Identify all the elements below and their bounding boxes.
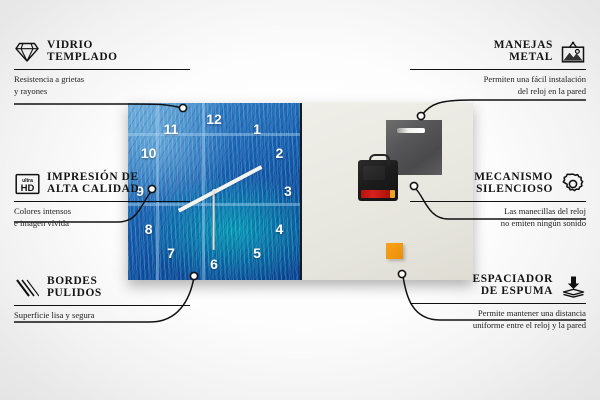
- feature-mecanismo-silencioso: MECANISMO SILENCIOSO Las manecillas del …: [410, 172, 586, 229]
- feature-header: ultra HD IMPRESIÓN DE ALTA CALIDAD: [14, 172, 190, 196]
- feature-title-line2: METAL: [494, 52, 553, 64]
- clock-numeral-10: 10: [141, 145, 157, 161]
- face-grid-line: [128, 133, 300, 136]
- foam-spacer: [386, 243, 403, 259]
- feature-divider: [14, 69, 190, 70]
- clock-numeral-5: 5: [253, 245, 261, 261]
- gear-icon: [560, 172, 586, 196]
- feature-title-line2: DE ESPUMA: [473, 286, 553, 298]
- feature-desc-line2: no emiten ningún sonido: [410, 218, 586, 229]
- feature-desc-line1: Las manecillas del reloj: [410, 206, 586, 217]
- feature-desc-line2: uniforme entre el reloj y la pared: [410, 320, 586, 331]
- battery-terminal: [390, 190, 395, 198]
- feature-description: Colores intensos e imagen vívida: [14, 206, 190, 229]
- feature-bordes-pulidos: BORDES PULIDOS Superficie lisa y segura: [14, 276, 190, 322]
- feature-desc-line1: Permite mantener una distancia: [410, 308, 586, 319]
- svg-text:HD: HD: [20, 183, 34, 194]
- mechanism-body-detail: [363, 166, 385, 180]
- feature-title: ESPACIADOR DE ESPUMA: [473, 274, 553, 298]
- feature-header: ESPACIADOR DE ESPUMA: [410, 274, 586, 298]
- diamond-icon: [14, 40, 40, 64]
- feature-desc-line1: Resistencia a grietas: [14, 74, 190, 85]
- clock-numeral-7: 7: [167, 245, 175, 261]
- clock-numeral-3: 3: [284, 183, 292, 199]
- feature-divider: [410, 69, 586, 70]
- feature-header: BORDES PULIDOS: [14, 276, 190, 300]
- hanging-frame-icon: [560, 40, 586, 64]
- feature-title: VIDRIO TEMPLADO: [47, 40, 118, 64]
- feature-header: MECANISMO SILENCIOSO: [410, 172, 586, 196]
- face-grid-line: [202, 103, 205, 280]
- feature-desc-line1: Permiten una fácil instalación: [410, 74, 586, 85]
- mechanism-battery: [361, 190, 391, 198]
- feature-divider: [14, 305, 190, 306]
- feature-description: Permiten una fácil instalación del reloj…: [410, 74, 586, 97]
- feature-vidrio-templado: VIDRIO TEMPLADO Resistencia a grietas y …: [14, 40, 190, 97]
- feature-divider: [410, 201, 586, 202]
- feature-description: Permite mantener una distancia uniforme …: [410, 308, 586, 331]
- ultra-hd-icon: ultra HD: [14, 172, 40, 196]
- feature-title: MECANISMO SILENCIOSO: [474, 172, 553, 196]
- clock-numeral-4: 4: [275, 221, 283, 237]
- feature-description: Superficie lisa y segura: [14, 310, 190, 321]
- clock-mechanism: [358, 160, 398, 201]
- clock-center-hub: [212, 189, 217, 194]
- feature-divider: [410, 303, 586, 304]
- mechanism-hanging-loop: [369, 154, 390, 165]
- feature-description: Las manecillas del reloj no emiten ningú…: [410, 206, 586, 229]
- infographic-canvas: 12 1 2 3 4 5 6 7 8 9 10 11: [0, 0, 600, 400]
- feature-manejas-metal: MANEJAS METAL Permiten una fácil instala…: [410, 40, 586, 97]
- clock-numeral-6: 6: [210, 256, 218, 272]
- feature-impresion-alta-calidad: ultra HD IMPRESIÓN DE ALTA CALIDAD Color…: [14, 172, 190, 229]
- feature-desc-line1: Colores intensos: [14, 206, 190, 217]
- hanger-slot: [397, 128, 425, 133]
- feature-desc-line2: e imagen vívida: [14, 218, 190, 229]
- feature-title: BORDES PULIDOS: [47, 276, 102, 300]
- feature-title: MANEJAS METAL: [494, 40, 553, 64]
- feature-title-line2: TEMPLADO: [47, 52, 118, 64]
- polished-edges-icon: [14, 276, 40, 300]
- feature-header: VIDRIO TEMPLADO: [14, 40, 190, 64]
- feature-description: Resistencia a grietas y rayones: [14, 74, 190, 97]
- feature-desc-line1: Superficie lisa y segura: [14, 310, 190, 321]
- clock-numeral-1: 1: [253, 121, 261, 137]
- feature-title: IMPRESIÓN DE ALTA CALIDAD: [47, 172, 139, 196]
- feature-desc-line2: y rayones: [14, 86, 190, 97]
- clock-second-hand: [213, 192, 215, 250]
- clock-numeral-11: 11: [164, 121, 179, 137]
- feature-desc-line2: del reloj en la pared: [410, 86, 586, 97]
- feature-header: MANEJAS METAL: [410, 40, 586, 64]
- clock-numeral-12: 12: [206, 111, 222, 127]
- clock-numeral-2: 2: [275, 145, 283, 161]
- feature-title-line2: PULIDOS: [47, 288, 102, 300]
- feature-divider: [14, 201, 190, 202]
- feature-title-line2: ALTA CALIDAD: [47, 184, 139, 196]
- feature-title-line2: SILENCIOSO: [474, 184, 553, 196]
- feature-espaciador-espuma: ESPACIADOR DE ESPUMA Permite mantener un…: [410, 274, 586, 331]
- arrow-down-layers-icon: [560, 274, 586, 298]
